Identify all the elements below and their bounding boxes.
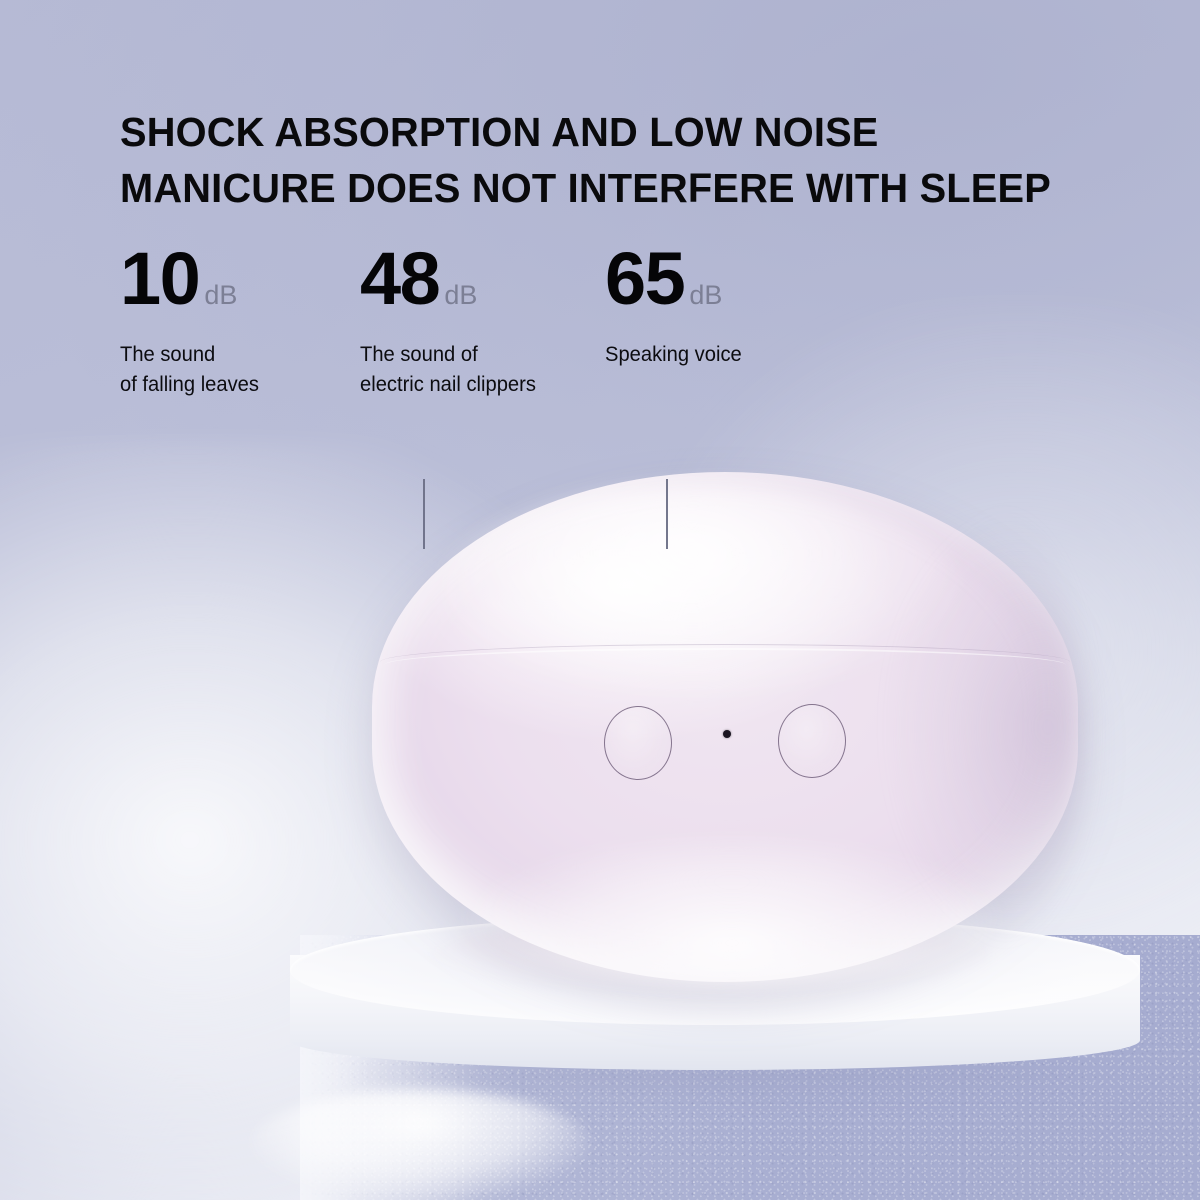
decibel-comparison-stats: 10 dB The sound of falling leaves 48 dB …	[120, 236, 840, 401]
stat-value-row: 65 dB	[605, 236, 835, 322]
stat-item-speaking-voice: 65 dB Speaking voice	[605, 236, 835, 370]
stat-value: 10	[120, 236, 199, 322]
stat-unit: dB	[689, 252, 722, 338]
stat-unit: dB	[204, 252, 237, 338]
stat-value-row: 10 dB	[120, 236, 295, 322]
stat-caption: The sound of electric nail clippers	[360, 340, 552, 400]
lid-seam-line	[380, 644, 1070, 680]
lid-seam-highlight	[384, 648, 1066, 682]
case-specular-highlight	[442, 486, 962, 696]
stat-caption: Speaking voice	[605, 340, 826, 370]
stat-item-falling-leaves: 10 dB The sound of falling leaves	[120, 236, 295, 400]
stat-caption: The sound of falling leaves	[120, 340, 288, 400]
stat-divider-2	[666, 479, 668, 549]
led-indicator-dot	[723, 730, 731, 738]
stat-item-electric-nail-clippers: 48 dB The sound of electric nail clipper…	[360, 236, 560, 400]
earbud-slot-left	[604, 706, 672, 780]
stat-value: 65	[605, 236, 684, 322]
stat-unit: dB	[444, 252, 477, 338]
earbud-slot-right	[778, 704, 846, 778]
stat-value-row: 48 dB	[360, 236, 560, 322]
stat-value: 48	[360, 236, 439, 322]
podium-secondary-disc	[250, 1090, 590, 1200]
stat-divider-1	[423, 479, 425, 549]
earbud-charging-case	[372, 472, 1078, 982]
headline-text: SHOCK ABSORPTION AND LOW NOISE MANICURE …	[120, 104, 1090, 216]
